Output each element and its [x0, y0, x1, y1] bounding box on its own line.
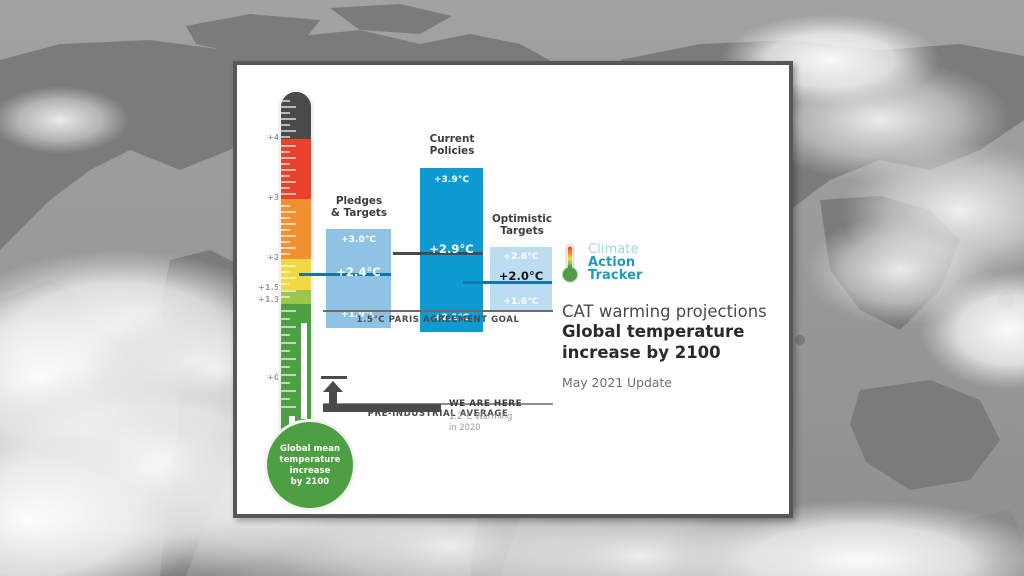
thermometer-tube: [278, 89, 314, 419]
we-are-here-arrowhead-icon: [323, 381, 343, 392]
bar-pledges-title-line1: Pledges: [313, 195, 405, 207]
paris-goal-label: 1.5°C PARIS AGREEMENT GOAL: [323, 315, 553, 325]
bulb-label-line2: temperature: [280, 454, 341, 465]
bar-pledges-high: +3.0°C: [326, 234, 391, 245]
we-are-here-subtitle: 1.2°C Warming in 2020: [449, 411, 512, 432]
we-are-here-sub-line2: in 2020: [449, 422, 512, 433]
headline-update: May 2021 Update: [562, 375, 787, 390]
paris-goal-line: [323, 310, 553, 312]
bar-pledges-mid: +2.4°C: [326, 265, 391, 279]
thermometer-logo-icon: [562, 243, 582, 285]
headline-block: Climate Action Tracker CAT warming proje…: [562, 243, 787, 390]
bulb-label-line1: Global mean: [280, 443, 341, 454]
bulb-label-line4: by 2100: [280, 476, 341, 487]
bar-pledges-title-line2: & Targets: [313, 207, 405, 219]
bar-current-policies: +3.9°C +2.9°C +2.1°C: [420, 168, 483, 332]
cat-logo: Climate Action Tracker: [562, 243, 787, 285]
we-are-here-annotation: WE ARE HERE 1.2°C Warming in 2020: [323, 380, 503, 420]
headline-line2: Global temperature: [562, 322, 787, 343]
bulb-label: Global mean temperature increase by 2100: [280, 443, 341, 487]
bar-optimistic-title: Optimistic Targets: [477, 213, 567, 238]
bar-optimistic-title-line2: Targets: [477, 225, 567, 237]
headline-line3: increase by 2100: [562, 343, 787, 364]
we-are-here-stem: [323, 404, 441, 412]
bar-pledges-title: Pledges & Targets: [313, 195, 405, 220]
bar-current-title-line2: Policies: [407, 145, 497, 157]
bar-pledges-targets: +3.0°C +2.4°C +1.9°C: [326, 229, 391, 328]
bar-optimistic-high: +2.6°C: [490, 251, 552, 262]
infographic-card: +4°C +3°C +2°C +1.5°C +1.3°C +0°C: [233, 61, 793, 518]
bar-current-title-line1: Current: [407, 133, 497, 145]
we-are-here-tick: [321, 376, 347, 379]
thermometer-graphic: +4°C +3°C +2°C +1.5°C +1.3°C +0°C: [266, 89, 326, 509]
bar-optimistic-targets: +2.6°C +2.0°C +1.6°C: [490, 247, 552, 311]
bar-current-title: Current Policies: [407, 133, 497, 158]
we-are-here-title: WE ARE HERE: [449, 399, 522, 409]
thermometer-bulb: Global mean temperature increase by 2100: [264, 419, 356, 511]
logo-line-tracker: Tracker: [588, 269, 643, 282]
bar-optimistic-mid: +2.0°C: [490, 269, 552, 283]
cat-logo-wordmark: Climate Action Tracker: [588, 243, 643, 283]
we-are-here-sub-line1: 1.2°C Warming: [449, 411, 512, 422]
bar-current-high: +3.9°C: [420, 174, 483, 185]
mercury-column-gap: [301, 323, 307, 419]
bar-current-mid: +2.9°C: [420, 242, 483, 256]
headline-line1: CAT warming projections: [562, 302, 787, 322]
bulb-label-line3: increase: [280, 465, 341, 476]
bar-optimistic-title-line1: Optimistic: [477, 213, 567, 225]
bar-optimistic-low: +1.6°C: [490, 296, 552, 307]
